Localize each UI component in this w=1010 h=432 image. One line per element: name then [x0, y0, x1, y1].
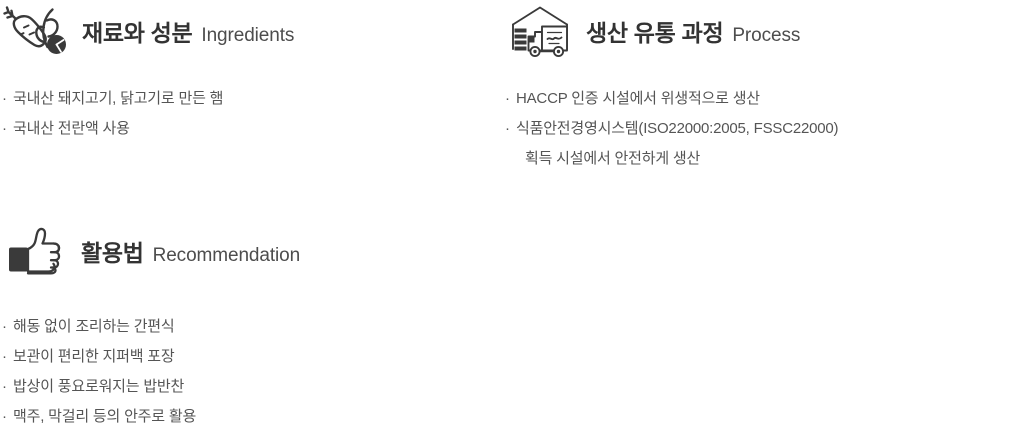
section-title-en: Process — [732, 25, 800, 47]
bullet-item: 국내산 돼지고기, 닭고기로 만든 햄 — [2, 84, 480, 114]
section-title-en: Ingredients — [201, 25, 294, 47]
bullet-item-continuation: 획득 시설에서 안전하게 생산 — [505, 144, 1000, 174]
section-title-recommendation: 활용법 Recommendation — [81, 234, 300, 268]
section-process: 생산 유통 과정 Process HACCP 인증 시설에서 위생적으로 생산 … — [500, 0, 1000, 174]
bullet-item: 식품안전경영시스템(ISO22000:2005, FSSC22000) — [505, 114, 1000, 144]
delivery-truck-warehouse-icon — [506, 2, 576, 60]
bullet-item: HACCP 인증 시설에서 위생적으로 생산 — [505, 84, 1000, 114]
section-title-ingredients: 재료와 성분 Ingredients — [82, 14, 294, 48]
section-header-process: 생산 유통 과정 Process — [500, 0, 1000, 62]
section-title-ko: 활용법 — [81, 234, 144, 268]
bullet-list-recommendation: 해동 없이 조리하는 간편식 보관이 편리한 지퍼백 포장 밥상이 풍요로워지는… — [0, 312, 480, 432]
section-title-ko: 재료와 성분 — [82, 14, 192, 48]
bullet-item: 국내산 전란액 사용 — [2, 114, 480, 144]
section-title-process: 생산 유통 과정 Process — [586, 14, 800, 48]
bullet-item: 보관이 편리한 지퍼백 포장 — [2, 342, 480, 372]
bullet-list-process: HACCP 인증 시설에서 위생적으로 생산 식품안전경영시스템(ISO2200… — [500, 84, 1000, 174]
bullet-item: 해동 없이 조리하는 간편식 — [2, 312, 480, 342]
section-ingredients: 재료와 성분 Ingredients 국내산 돼지고기, 닭고기로 만든 햄 국… — [0, 0, 480, 144]
bullet-list-ingredients: 국내산 돼지고기, 닭고기로 만든 햄 국내산 전란액 사용 — [0, 84, 480, 144]
bullet-item: 맥주, 막걸리 등의 안주로 활용 — [2, 402, 480, 432]
section-title-ko: 생산 유통 과정 — [586, 14, 723, 48]
thumbs-up-icon — [3, 222, 73, 280]
section-header-ingredients: 재료와 성분 Ingredients — [0, 0, 480, 62]
section-title-en: Recommendation — [153, 245, 301, 267]
section-recommendation: 활용법 Recommendation 해동 없이 조리하는 간편식 보관이 편리… — [0, 220, 480, 432]
bullet-item: 밥상이 풍요로워지는 밥반찬 — [2, 372, 480, 402]
section-header-recommendation: 활용법 Recommendation — [0, 220, 480, 282]
carrot-vegetables-icon — [0, 2, 70, 60]
